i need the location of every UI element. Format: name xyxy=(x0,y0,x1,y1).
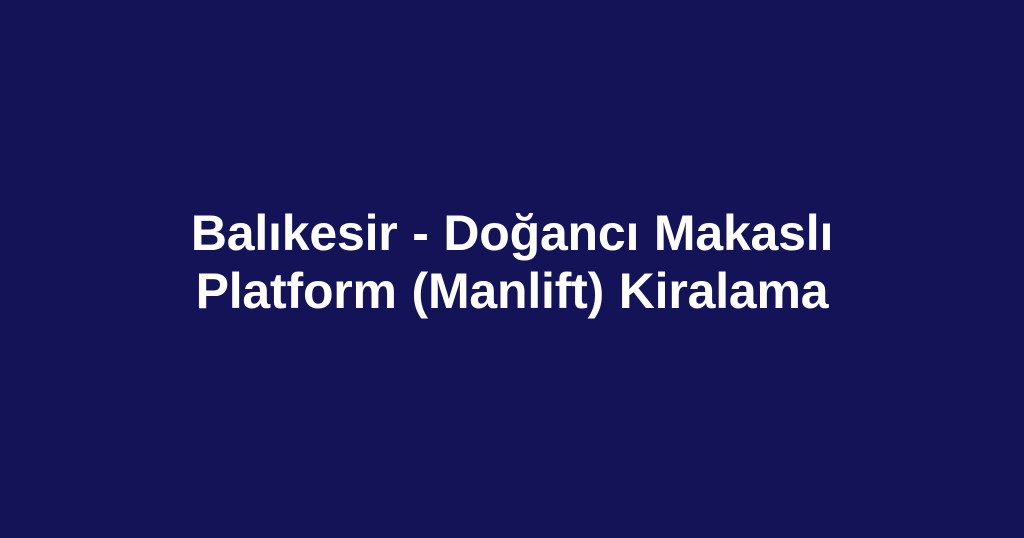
og-share-card: Balıkesir - Doğancı Makaslı Platform (Ma… xyxy=(0,0,1024,538)
page-title: Balıkesir - Doğancı Makaslı Platform (Ma… xyxy=(96,204,928,320)
title-block: Balıkesir - Doğancı Makaslı Platform (Ma… xyxy=(72,204,952,320)
